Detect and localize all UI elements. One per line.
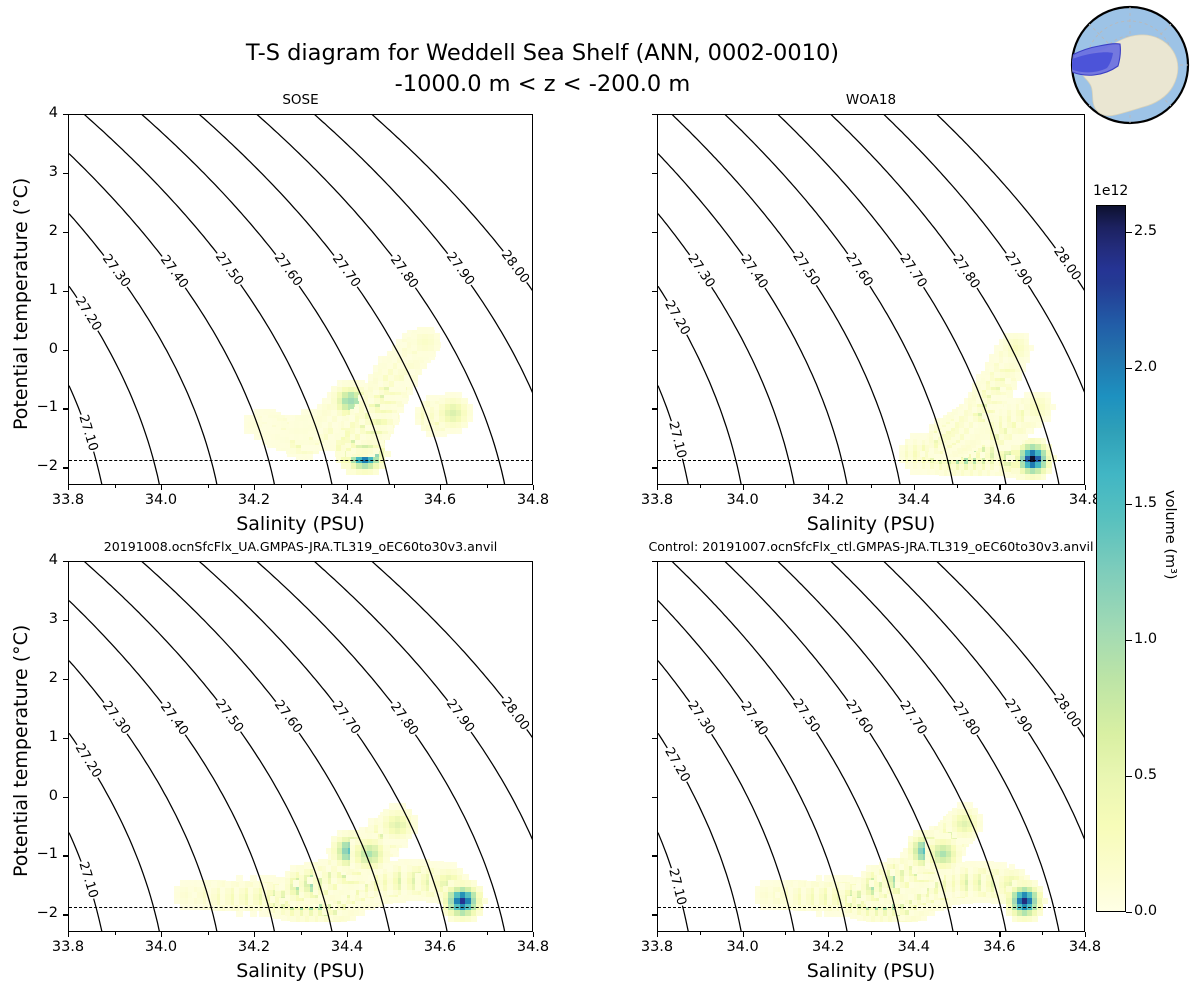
density-contours — [658, 115, 1085, 485]
x-tick-label: 34.2 — [224, 492, 284, 508]
y-tick — [652, 232, 657, 233]
x-tick-minor — [301, 932, 302, 935]
x-tick — [161, 485, 162, 490]
panel-title-control: Control: 20191007.ocnSfcFlx_ctl.GMPAS-JR… — [617, 539, 1125, 554]
y-tick — [652, 467, 657, 468]
y-tick — [63, 561, 68, 562]
y-tick-label: 4 — [18, 552, 58, 568]
x-tick — [657, 485, 658, 490]
contour-line-27.60 — [69, 562, 397, 932]
x-tick — [743, 485, 744, 490]
x-tick — [254, 932, 255, 937]
x-tick-label: 34.4 — [884, 492, 944, 508]
figure-title: T-S diagram for Weddell Sea Shelf (ANN, … — [0, 38, 1085, 100]
x-tick — [533, 932, 534, 937]
y-tick-label: −2 — [18, 458, 58, 474]
x-tick-label: 34.4 — [317, 492, 377, 508]
x-tick-label: 34.4 — [317, 939, 377, 955]
contour-line-27.90 — [69, 562, 533, 843]
x-tick-minor — [208, 485, 209, 488]
y-tick — [63, 291, 68, 292]
x-tick — [347, 485, 348, 490]
x-tick — [254, 485, 255, 490]
x-tick — [161, 932, 162, 937]
x-tick-minor — [1042, 485, 1043, 488]
density-contours — [69, 115, 533, 485]
x-tick-minor — [394, 932, 395, 935]
contour-line-27.50 — [658, 115, 906, 485]
axes-area-woa18[interactable]: 27.1027.2027.3027.4027.5027.6027.7027.80… — [657, 114, 1085, 485]
y-axis-label: Potential temperature (°C) — [10, 624, 32, 876]
x-tick-minor — [785, 485, 786, 488]
x-tick-label: 34.0 — [131, 492, 191, 508]
x-tick-label: 34.6 — [410, 939, 470, 955]
x-tick-minor — [394, 485, 395, 488]
panel-title-sose: SOSE — [28, 92, 573, 108]
x-tick-minor — [301, 485, 302, 488]
x-tick-label: 34.8 — [503, 492, 563, 508]
x-axis-label: Salinity (PSU) — [617, 513, 1125, 535]
freezing-point-line — [69, 460, 533, 461]
panel-title-ua-run: 20191008.ocnSfcFlx_UA.GMPAS-JRA.TL319_oE… — [28, 539, 573, 554]
y-tick — [63, 797, 68, 798]
x-tick — [347, 932, 348, 937]
axes-area-sose[interactable]: 27.1027.2027.3027.4027.5027.6027.7027.80… — [68, 114, 533, 485]
contour-line-27.50 — [69, 115, 339, 485]
y-tick — [63, 855, 68, 856]
axes-area-ua-run[interactable]: 27.1027.2027.3027.4027.5027.6027.7027.80… — [68, 561, 533, 932]
y-tick — [63, 114, 68, 115]
x-tick-minor — [957, 485, 958, 488]
x-tick-label: 34.2 — [224, 939, 284, 955]
x-tick — [440, 485, 441, 490]
y-tick — [63, 914, 68, 915]
x-tick-label: 33.8 — [38, 939, 98, 955]
y-tick — [63, 738, 68, 739]
contour-line-27.50 — [69, 562, 339, 932]
contour-line-27.60 — [69, 115, 397, 485]
x-tick-label: 33.8 — [38, 492, 98, 508]
y-tick — [63, 173, 68, 174]
y-tick — [63, 232, 68, 233]
y-tick — [652, 114, 657, 115]
x-tick — [999, 485, 1000, 490]
y-tick — [652, 173, 657, 174]
x-tick-minor — [700, 485, 701, 488]
axes-area-control[interactable]: 27.1027.2027.3027.4027.5027.6027.7027.80… — [657, 561, 1085, 932]
x-tick-label: 34.0 — [713, 492, 773, 508]
y-tick-label: −2 — [18, 905, 58, 921]
x-tick — [828, 485, 829, 490]
y-tick — [652, 350, 657, 351]
panel-title-woa18: WOA18 — [617, 92, 1125, 108]
contour-line-27.70 — [69, 115, 455, 485]
contour-line-27.90 — [658, 115, 1085, 396]
contour-line-27.70 — [69, 562, 455, 932]
figure-title-line1: T-S diagram for Weddell Sea Shelf (ANN, … — [0, 38, 1085, 69]
x-tick-label: 33.8 — [627, 492, 687, 508]
y-tick — [63, 679, 68, 680]
x-tick — [533, 485, 534, 490]
y-tick — [63, 350, 68, 351]
x-tick-minor — [487, 485, 488, 488]
freezing-point-line — [658, 460, 1085, 461]
y-tick — [652, 291, 657, 292]
x-tick — [1085, 485, 1086, 490]
x-tick-minor — [871, 485, 872, 488]
x-tick-minor — [115, 932, 116, 935]
x-tick-label: 34.8 — [503, 939, 563, 955]
x-tick-label: 34.2 — [798, 492, 858, 508]
x-tick — [914, 485, 915, 490]
y-tick — [652, 408, 657, 409]
freezing-point-line — [69, 907, 533, 908]
x-tick — [440, 932, 441, 937]
x-axis-label: Salinity (PSU) — [28, 513, 573, 535]
y-tick — [63, 467, 68, 468]
contour-line-27.60 — [658, 115, 960, 485]
x-tick-label: 34.0 — [131, 939, 191, 955]
contour-line-27.70 — [658, 115, 1013, 485]
x-tick-label: 34.6 — [410, 492, 470, 508]
y-tick — [63, 620, 68, 621]
y-axis-label: Potential temperature (°C) — [10, 177, 32, 429]
x-tick — [68, 932, 69, 937]
x-tick-minor — [208, 932, 209, 935]
y-tick-label: 4 — [18, 105, 58, 121]
x-tick — [68, 485, 69, 490]
x-axis-label: Salinity (PSU) — [28, 960, 573, 982]
x-tick-minor — [487, 932, 488, 935]
contour-line-27.90 — [69, 115, 533, 396]
y-tick — [63, 408, 68, 409]
x-tick-minor — [115, 485, 116, 488]
density-contours — [69, 562, 533, 932]
x-tick-label: 34.6 — [969, 492, 1029, 508]
